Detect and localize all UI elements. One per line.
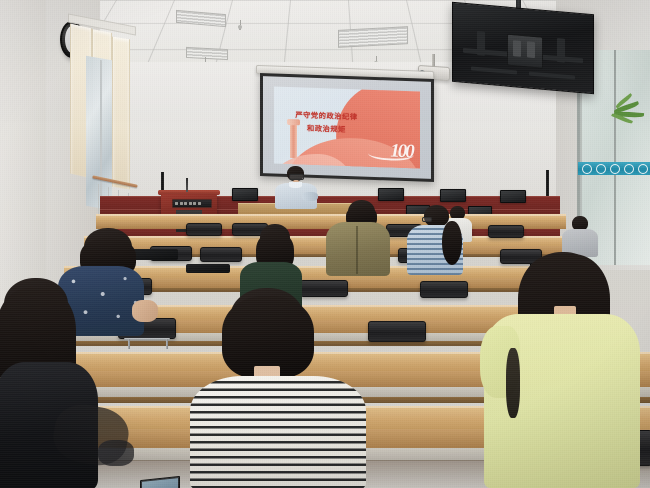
- attendee-black-sheer-sleeves: [0, 278, 140, 488]
- arm: [98, 440, 134, 466]
- hair-strand: [506, 348, 520, 418]
- torso: [326, 222, 390, 276]
- projector-screen-surface: 严守党的政治纪律 和政治规矩 100: [263, 76, 431, 179]
- slide-title: 严守党的政治纪律 和政治规矩: [283, 107, 371, 137]
- desk-monitor: [440, 189, 466, 202]
- tv-rib: [557, 38, 565, 63]
- lecture-room-photo: 严守党的政治纪律 和政治规矩 100: [0, 0, 650, 488]
- lectern-microphone: [186, 178, 188, 192]
- desk-monitor: [500, 190, 526, 203]
- jacket-seam: [356, 226, 358, 274]
- control-key[interactable]: [193, 202, 196, 206]
- torso: [190, 376, 366, 488]
- attendee-striped-knit-top: [186, 288, 372, 488]
- ceiling-display-rear: [452, 2, 594, 94]
- control-key[interactable]: [184, 202, 187, 206]
- decal-dot-icon: [610, 164, 620, 174]
- decal-dot-icon: [596, 164, 606, 174]
- control-key[interactable]: [198, 202, 201, 206]
- control-key[interactable]: [180, 202, 183, 206]
- presenter-collar: [289, 182, 302, 188]
- glass-decal-strip: [578, 162, 650, 175]
- ceiling-sprinkler: [238, 25, 242, 29]
- desk-monitor: [232, 188, 258, 201]
- control-key[interactable]: [189, 202, 192, 206]
- ponytail: [442, 221, 462, 265]
- attendee-grey-top: [560, 216, 600, 256]
- potted-palm: [596, 95, 650, 135]
- glasses-icon: [422, 217, 432, 222]
- knit-stripes: [190, 376, 366, 488]
- attendee-olive-jacket: [324, 200, 392, 274]
- bag-on-desk: [186, 264, 230, 273]
- tv-bracket-slot: [527, 41, 535, 58]
- decal-dot-icon: [638, 164, 648, 174]
- tv-rib: [529, 72, 575, 80]
- window-roller-blind: [112, 37, 130, 190]
- chair: [368, 321, 426, 342]
- presenter-at-podium: [272, 166, 320, 210]
- lectern-control-panel[interactable]: [172, 199, 212, 208]
- tv-rib: [471, 66, 517, 74]
- chair-leg: [166, 339, 168, 349]
- glass-mullion: [614, 50, 616, 265]
- presenter-glasses-icon: [289, 174, 304, 180]
- ceiling-air-vent: [338, 26, 408, 48]
- chair: [420, 281, 468, 298]
- chair: [186, 223, 222, 236]
- attendee-pale-yellow-blouse: [480, 252, 650, 488]
- decal-dot-icon: [624, 164, 634, 174]
- presentation-slide: 严守党的政治纪律 和政治规矩 100: [274, 86, 420, 169]
- chair: [488, 225, 524, 238]
- tv-rib: [477, 31, 485, 56]
- decal-dot-icon: [582, 164, 592, 174]
- control-key[interactable]: [175, 202, 178, 206]
- attendee-blue-striped-shirt: [404, 205, 466, 275]
- ceiling-air-vent: [186, 47, 228, 60]
- presenter-arm: [302, 192, 318, 201]
- tv-bracket-slot: [513, 40, 521, 57]
- laptop-screen-glow: [142, 478, 178, 488]
